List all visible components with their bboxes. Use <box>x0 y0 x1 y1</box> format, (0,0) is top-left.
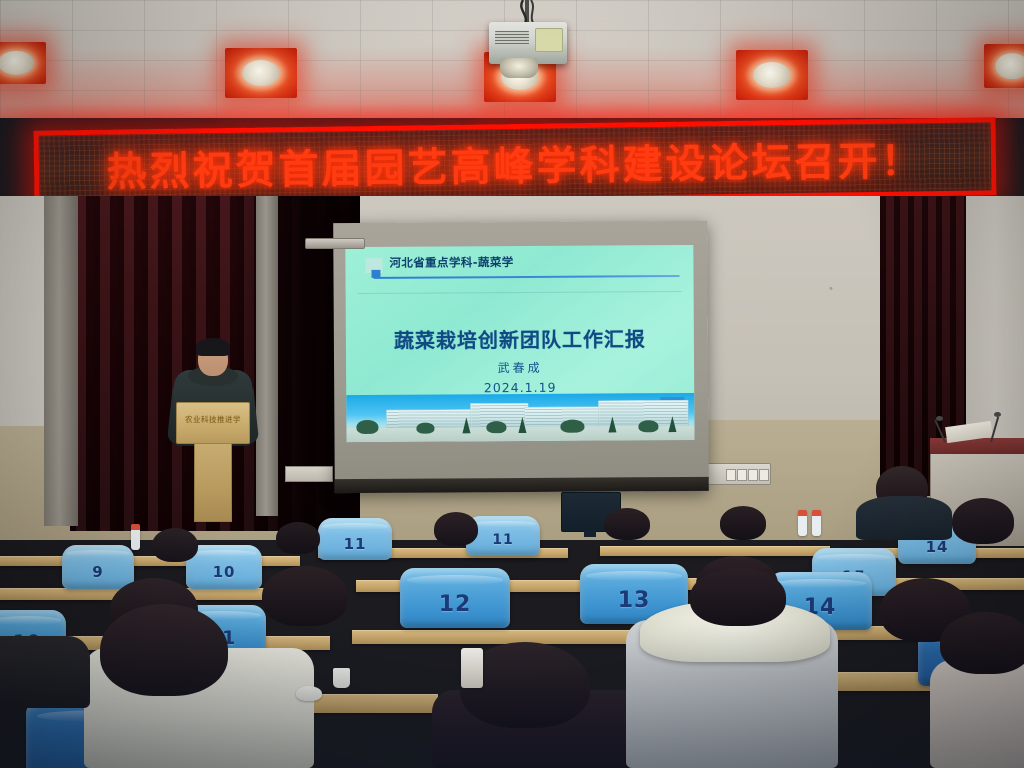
audience-member-foreground <box>690 568 786 626</box>
person-head <box>262 566 348 626</box>
slide-title: 蔬菜栽培创新团队工作汇报 <box>346 323 694 354</box>
photo-tree <box>560 420 584 433</box>
slide-campus-photo <box>346 393 694 442</box>
light-bulb-icon <box>753 62 790 88</box>
microphone-head-icon <box>936 416 943 421</box>
water-bottle[interactable] <box>798 510 807 536</box>
computer-mouse[interactable] <box>296 686 322 701</box>
thermos-bottle[interactable] <box>461 648 483 688</box>
seat-number: 12 <box>400 592 510 617</box>
person-head <box>940 612 1024 674</box>
slide-author: 武春成 <box>346 358 694 377</box>
screen-bottom-bar <box>335 477 709 493</box>
seat-number: 11 <box>318 535 392 553</box>
person-head <box>690 568 786 626</box>
projection-screen: 河北省重点学科-蔬菜学 蔬菜栽培创新团队工作汇报 武春成 2024.1.19 <box>333 221 709 493</box>
panel-switch[interactable] <box>759 469 769 481</box>
ceiling-light-5 <box>984 44 1024 88</box>
audience-member <box>262 566 348 626</box>
person-shoulders <box>856 496 952 540</box>
photo-tree <box>486 421 506 433</box>
led-banner: 热烈祝贺首届园艺高峰学科建设论坛召开！ <box>34 117 997 208</box>
seat-fold <box>586 571 681 581</box>
seat-fold <box>407 575 504 585</box>
person-head <box>952 498 1014 544</box>
audience-member <box>152 528 198 562</box>
person-head <box>434 512 478 546</box>
audience-member <box>276 522 320 554</box>
photo-conifer <box>668 416 676 432</box>
ceiling-light-2 <box>225 48 297 98</box>
audience-member <box>952 498 1014 544</box>
water-bottle[interactable] <box>131 524 140 550</box>
audience-member-foreground <box>100 604 228 696</box>
seat-fold <box>0 616 61 624</box>
wall-control-box-small <box>285 466 333 482</box>
podium-nameplate: 农业科技推进学院 <box>184 413 242 427</box>
person-head <box>604 508 650 540</box>
seat-11[interactable]: 11 <box>318 518 392 560</box>
seat-12[interactable]: 12 <box>400 568 510 628</box>
slide-header-text: 河北省重点学科-蔬菜学 <box>389 254 513 271</box>
audience-coat <box>930 660 1024 768</box>
person-head <box>276 522 320 554</box>
presentation-slide: 河北省重点学科-蔬菜学 蔬菜栽培创新团队工作汇报 武春成 2024.1.19 <box>345 245 694 442</box>
screen-roller-bar <box>305 238 365 249</box>
photo-tree <box>416 423 434 434</box>
panel-switch[interactable] <box>748 469 758 481</box>
seat-fold <box>322 523 387 530</box>
ceiling-light-4 <box>736 50 808 100</box>
panel-switch[interactable] <box>737 469 747 481</box>
photo-conifer <box>518 417 526 433</box>
light-bulb-icon <box>0 51 34 75</box>
paper-cup[interactable] <box>333 668 350 688</box>
stage-pillar-right <box>256 196 278 516</box>
microphone-head-icon <box>994 412 1001 417</box>
auditorium-scene: 热烈祝贺首届园艺高峰学科建设论坛召开！ 河北省重点学科-蔬菜学 蔬菜栽培创新团队… <box>0 0 1024 768</box>
stage-pillar-left <box>44 196 78 526</box>
panel-switch[interactable] <box>726 469 736 481</box>
audience-member <box>434 512 478 546</box>
audience-coat <box>0 636 90 708</box>
water-bottle[interactable] <box>812 510 821 536</box>
seat-fold <box>470 521 535 527</box>
photo-conifer <box>608 416 616 432</box>
person-head <box>100 604 228 696</box>
audience-member <box>604 508 650 540</box>
presenter-hair <box>196 338 230 356</box>
audience-member <box>720 506 766 540</box>
desk <box>600 546 830 556</box>
photo-tree <box>356 420 378 434</box>
light-bulb-icon <box>242 60 279 86</box>
photo-conifer <box>462 417 470 433</box>
photo-tree <box>638 420 658 432</box>
ceiling-light-1 <box>0 42 46 84</box>
light-bulb-icon <box>995 53 1024 79</box>
projector-lens-housing <box>535 28 563 52</box>
audience-member-foreground <box>940 612 1024 674</box>
projector-vent <box>495 31 529 45</box>
slide-secondary-rule <box>358 291 682 294</box>
projector-lens-icon <box>500 58 538 78</box>
podium-desk: 农业科技推进学院 <box>176 402 250 444</box>
wall-control-panel <box>703 463 771 485</box>
person-head <box>152 528 198 562</box>
person-head <box>720 506 766 540</box>
